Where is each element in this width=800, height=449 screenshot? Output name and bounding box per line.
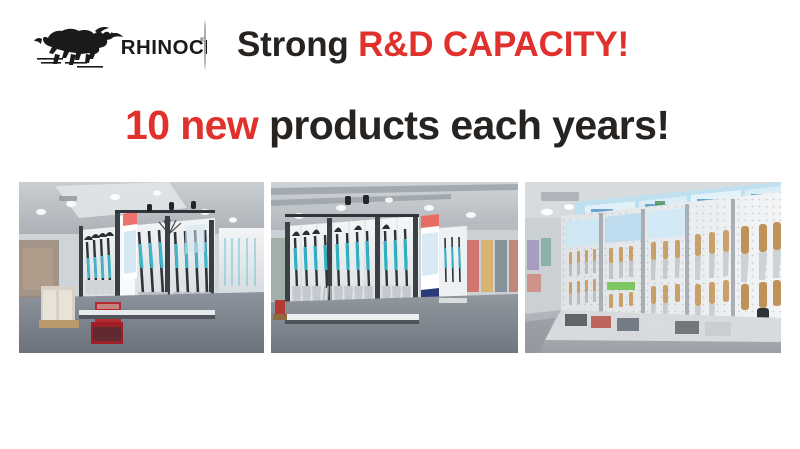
headline-secondary-red: 10 new (125, 102, 269, 148)
gallery-photo-1 (19, 182, 264, 353)
showroom-wide-display-aisle-image (271, 182, 518, 353)
brand-logo: RHINOCEROS ® (31, 18, 207, 72)
rhinoceros-logo-icon: RHINOCEROS ® (31, 18, 207, 72)
headline-secondary: 10 new products each years! (125, 100, 669, 150)
headline-primary-dark: Strong (237, 25, 358, 64)
header-divider (204, 19, 206, 71)
headline-secondary-dark: products each years! (269, 102, 669, 148)
headline-primary: Strong R&D CAPACITY! (237, 24, 629, 66)
gallery-photo-3 (525, 182, 781, 353)
showroom-tool-rack-aisle-image (19, 182, 264, 353)
marketing-banner: RHINOCEROS ® Strong R&D CAPACITY! 10 new… (0, 0, 800, 449)
photo-gallery (19, 182, 781, 353)
headline-primary-red: R&D CAPACITY! (358, 25, 629, 64)
gallery-photo-2 (271, 182, 518, 353)
logo-wordmark: RHINOCEROS (121, 37, 207, 59)
showroom-pegboard-hand-tools-image (525, 182, 781, 353)
